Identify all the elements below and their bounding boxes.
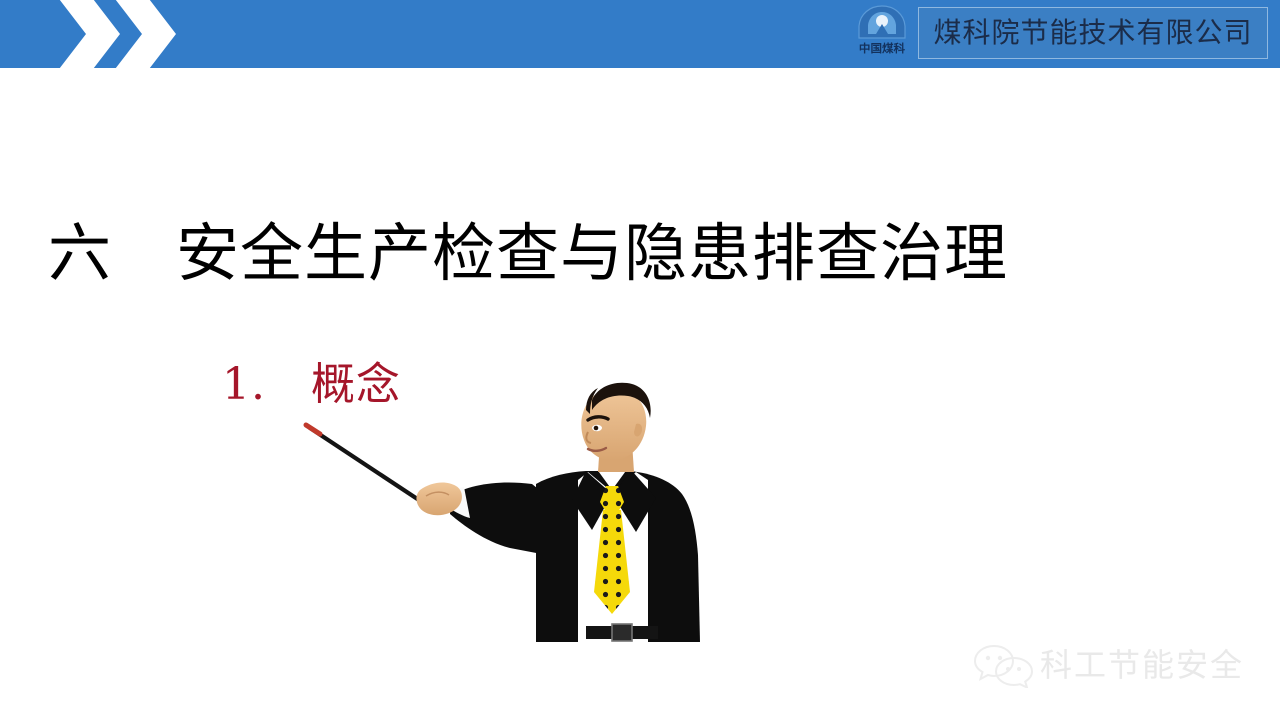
company-logo: 中国煤科 xyxy=(846,4,918,64)
slide-canvas: 中国煤科 煤科院节能技术有限公司 六 安全生产检查与隐患排查治理 1. 概念 xyxy=(0,0,1280,720)
header-banner: 中国煤科 煤科院节能技术有限公司 xyxy=(0,0,1280,68)
businessman-with-pointer-image xyxy=(300,380,730,655)
wechat-icon xyxy=(972,642,1034,688)
logo-caption: 中国煤科 xyxy=(859,43,905,55)
chevron-right-icon-2 xyxy=(96,0,182,68)
wechat-watermark: 科工节能安全 xyxy=(972,636,1242,694)
watermark-text: 科工节能安全 xyxy=(1040,649,1244,681)
slide-title: 六 安全生产检查与隐患排查治理 xyxy=(48,205,1248,303)
company-name-text: 煤科院节能技术有限公司 xyxy=(933,19,1252,47)
company-name-box: 煤科院节能技术有限公司 xyxy=(918,7,1268,59)
china-coal-science-emblem-icon xyxy=(856,4,908,42)
